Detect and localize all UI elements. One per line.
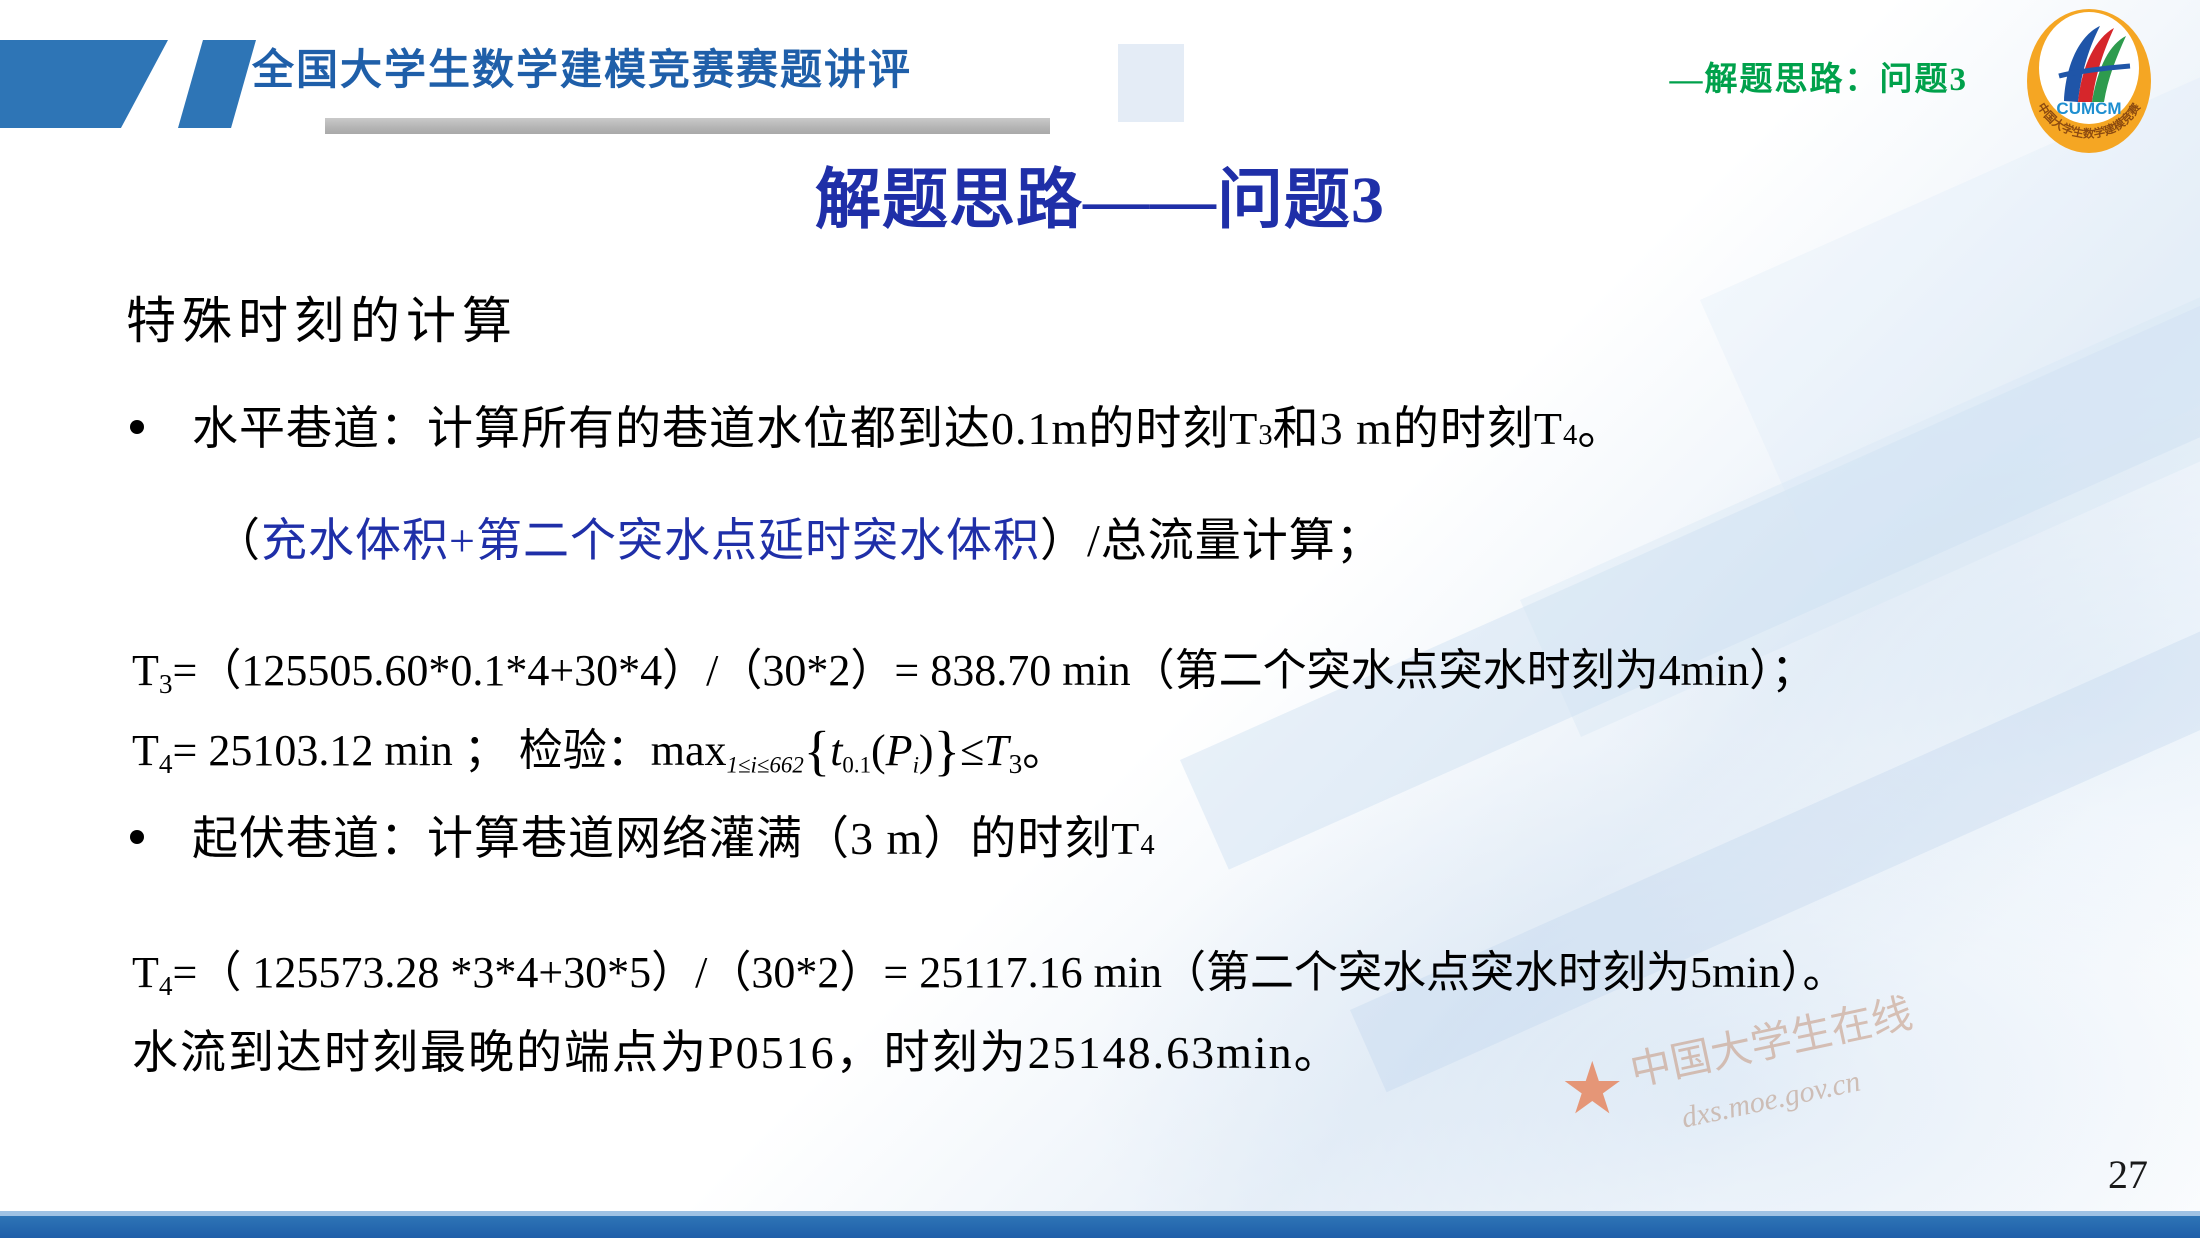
bullet-dot-icon <box>130 420 144 434</box>
bullet-1-sub1: 3 <box>1258 420 1272 452</box>
formula-t4-set-open: { <box>804 720 830 781</box>
formula-t3: T3=（125505.60*0.1*4+30*4）/（30*2）= 838.70… <box>132 634 1815 700</box>
blue-line-highlight: 充水体积+第二个突水点延时突水体积 <box>261 515 1040 566</box>
bullet-2-sub1: 4 <box>1140 830 1154 862</box>
slide-body: 特殊时刻的计算 水平巷道：计算所有的巷道水位都到达0.1m的时刻T3和3 m的时… <box>0 0 2200 1238</box>
formula-t4b-lhs-sub: 4 <box>159 971 173 1001</box>
formula-t4b-expression: =（ 125573.28 *3*4+30*5）/（30*2）= 25117.16… <box>173 948 1162 997</box>
formula-t3-lhs-sub: 3 <box>159 669 173 699</box>
last-arrival-statement: 水流到达时刻最晚的端点为P0516，时刻为25148.63min。 <box>132 1016 1342 1082</box>
bullet-1-text-part3: 。 <box>1577 392 1624 458</box>
formula-t4-lhs-sub: 4 <box>159 749 173 779</box>
formula-t4-max-range: 1≤i≤662 <box>727 752 804 777</box>
section-heading: 特殊时刻的计算 <box>126 281 518 353</box>
formula-t3-expression: =（125505.60*0.1*4+30*4）/（30*2）= 838.70 m… <box>173 646 1131 695</box>
formula-t4-check: T4= 25103.12 min ； 检验：max1≤i≤662{t0.1(Pi… <box>132 714 1066 782</box>
formula-t3-note: （第二个突水点突水时刻为4min）； <box>1131 646 1815 695</box>
bullet-item-horizontal-tunnel: 水平巷道：计算所有的巷道水位都到达0.1m的时刻T3和3 m的时刻T4。 <box>130 392 1624 458</box>
blue-line-close: ）/总流量计算； <box>1040 515 1383 566</box>
formula-t4-p-var: P <box>886 726 913 775</box>
formula-t4-undulating: T4=（ 125573.28 *3*4+30*5）/（30*2）= 25117.… <box>132 936 1846 1002</box>
formula-t4-value: = 25103.12 min ； 检验： <box>173 726 651 775</box>
formula-t4-lhs: T <box>132 726 159 775</box>
formula-t4-t-var: t <box>830 726 842 775</box>
bullet-2-text-part1: 起伏巷道：计算巷道网络灌满（3 m）的时刻T <box>192 802 1140 868</box>
blue-line-open-paren: （ <box>214 515 261 566</box>
formula-t4-max-label: max <box>651 726 727 775</box>
volume-formula-description: （充水体积+第二个突水点延时突水体积）/总流量计算； <box>214 504 1383 570</box>
slide-root: 全国大学生数学建模竞赛赛题讲评 —解题思路：问题3 CUMCM 中国大学生数学建… <box>0 0 2200 1238</box>
formula-t4-set-close: } <box>934 720 960 781</box>
bullet-1-text-part1: 水平巷道：计算所有的巷道水位都到达0.1m的时刻T <box>192 392 1258 458</box>
formula-t4-le: ≤ <box>960 726 984 775</box>
page-number: 27 <box>2108 1151 2148 1198</box>
formula-t4-paren-close: ) <box>919 726 934 775</box>
bullet-dot-icon <box>130 830 144 844</box>
footer-bar <box>0 1216 2200 1238</box>
formula-t3-lhs: T <box>132 646 159 695</box>
formula-t4-paren-open: ( <box>871 726 886 775</box>
formula-t4-rhs-sub: 3 <box>1009 749 1023 779</box>
formula-t4-period: 。 <box>1022 726 1066 775</box>
formula-t4-rhs: T <box>984 726 1008 775</box>
bullet-1-sub2: 4 <box>1563 420 1577 452</box>
formula-t4-t-sub: 0.1 <box>842 752 871 777</box>
formula-t4b-note: （第二个突水点突水时刻为5min）。 <box>1162 948 1846 997</box>
bullet-item-undulating-tunnel: 起伏巷道：计算巷道网络灌满（3 m）的时刻T4 <box>130 802 1155 868</box>
formula-t4b-lhs: T <box>132 948 159 997</box>
bullet-1-text-part2: 和3 m的时刻T <box>1273 392 1563 458</box>
